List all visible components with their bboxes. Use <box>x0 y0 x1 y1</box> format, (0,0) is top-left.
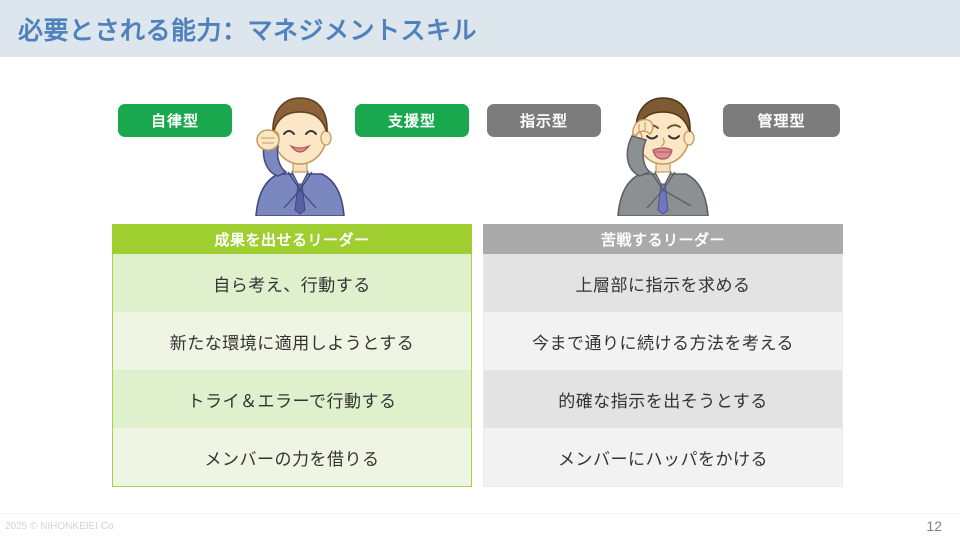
table-successful-leader: 成果を出せるリーダー 自ら考え、行動する 新たな環境に適用しようとする トライ＆… <box>112 224 472 487</box>
table-left-body: 自ら考え、行動する 新たな環境に適用しようとする トライ＆エラーで行動する メン… <box>112 254 472 487</box>
table-row: 今まで通りに続ける方法を考える <box>484 312 842 370</box>
badge-autonomous-type: 自律型 <box>118 104 232 137</box>
badge-label: 指示型 <box>520 110 568 131</box>
badge-directive-type: 指示型 <box>487 104 601 137</box>
footer-copyright: 2025 © NIHONKEIEI Co <box>5 521 114 532</box>
page-title: 必要とされる能力：マネジメントスキル <box>18 11 477 47</box>
table-left-header: 成果を出せるリーダー <box>112 224 472 254</box>
badge-label: 管理型 <box>757 110 805 131</box>
table-row: メンバーの力を借りる <box>113 428 471 486</box>
badge-supportive-type: 支援型 <box>355 104 469 137</box>
footer-divider <box>0 513 960 514</box>
table-row: 的確な指示を出そうとする <box>484 370 842 428</box>
troubled-businessman-illustration <box>606 88 718 216</box>
table-row: 上層部に指示を求める <box>484 254 842 312</box>
page-number: 12 <box>926 518 942 534</box>
badge-controlling-type: 管理型 <box>723 104 840 137</box>
table-row: トライ＆エラーで行動する <box>113 370 471 428</box>
table-right-body: 上層部に指示を求める 今まで通りに続ける方法を考える 的確な指示を出そうとする … <box>483 254 843 487</box>
badge-label: 支援型 <box>388 110 436 131</box>
badge-label: 自律型 <box>151 110 199 131</box>
table-row: 自ら考え、行動する <box>113 254 471 312</box>
confident-businessman-illustration <box>248 88 352 216</box>
table-row: メンバーにハッパをかける <box>484 428 842 486</box>
table-struggling-leader: 苦戦するリーダー 上層部に指示を求める 今まで通りに続ける方法を考える 的確な指… <box>483 224 843 487</box>
table-right-header: 苦戦するリーダー <box>483 224 843 254</box>
table-row: 新たな環境に適用しようとする <box>113 312 471 370</box>
